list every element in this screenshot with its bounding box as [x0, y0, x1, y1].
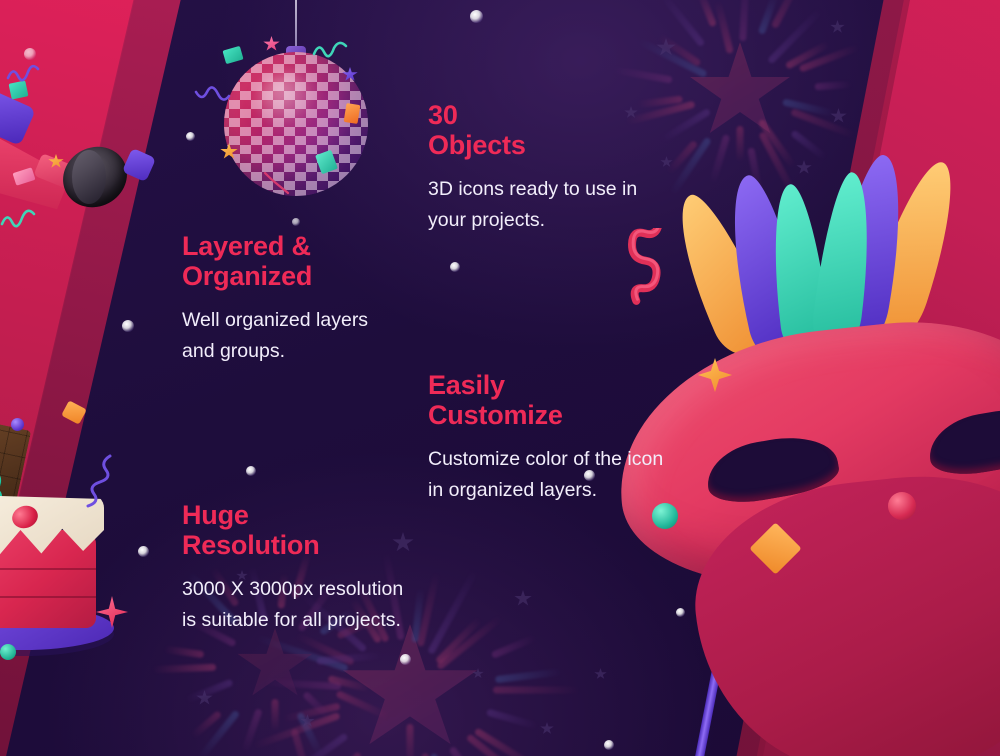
cake-stripe — [0, 596, 96, 598]
confetti-sphere-purple — [11, 418, 24, 431]
firework-ray — [637, 38, 708, 78]
firework-ray — [714, 0, 734, 54]
background-star — [830, 108, 847, 124]
cake-stripe — [0, 568, 96, 570]
background-star — [300, 714, 315, 728]
confetti-squiggle-teal — [312, 34, 350, 64]
bokeh-dot — [186, 132, 195, 141]
background-star — [196, 690, 213, 706]
firework-ray — [491, 634, 537, 659]
background-star — [594, 668, 607, 680]
firework-ray — [184, 679, 233, 704]
firework-ray — [241, 708, 263, 754]
popper-cap-left — [0, 90, 36, 146]
confetti-squiggle-teal — [0, 196, 40, 230]
confetti-sphere-teal — [0, 644, 16, 660]
feature-body: Well organized layers and groups. — [182, 305, 472, 367]
background-star — [540, 722, 554, 735]
firework-core-star — [340, 624, 480, 756]
firework-ray — [325, 751, 363, 756]
firework-ray — [264, 679, 341, 690]
firework-ray — [407, 724, 414, 756]
bokeh-dot — [604, 740, 614, 750]
firework-ray — [785, 41, 830, 70]
bokeh-dot — [292, 218, 300, 226]
bokeh-dot — [122, 320, 134, 332]
firework-ray — [495, 668, 562, 683]
background-star — [472, 668, 484, 679]
feature-body: 3000 X 3000px resolution is suitable for… — [182, 574, 492, 636]
firework-ray — [771, 0, 804, 29]
feature-body: Customize color of the icon in organized… — [428, 444, 728, 506]
firework-ray — [815, 81, 853, 91]
firework-core-star — [236, 628, 314, 702]
confetti-sphere-teal — [652, 503, 678, 529]
feature-block-huge: Huge Resolution 3000 X 3000px resolution… — [182, 500, 492, 636]
firework-ray — [317, 652, 384, 665]
firework-ray — [291, 728, 315, 756]
confetti-rect-orange — [344, 103, 361, 124]
bokeh-dot — [470, 10, 483, 23]
firework-ray — [612, 66, 673, 83]
popper-wheel-rim — [72, 150, 106, 204]
firework-ray — [327, 675, 370, 692]
firework-ray — [255, 634, 349, 672]
firework-ray — [739, 0, 750, 41]
feature-block-layered: Layered & Organized Well organized layer… — [182, 231, 472, 367]
feature-body: 3D icons ready to use in your projects. — [428, 174, 728, 236]
bokeh-dot — [246, 466, 256, 476]
firework-ray — [466, 733, 543, 756]
background-star — [656, 38, 676, 57]
confetti-squiggle-purple — [6, 56, 42, 86]
background-star — [514, 590, 532, 607]
firework-ray — [296, 712, 323, 756]
firework-ray — [758, 0, 779, 35]
firework-ray — [767, 7, 824, 65]
feature-block-easily: Easily Customize Customize color of the … — [428, 370, 728, 506]
feature-block-objects: 30 Objects 3D icons ready to use in your… — [428, 100, 728, 236]
firework-ray — [790, 108, 856, 139]
firework-ray — [474, 728, 540, 756]
firework-ray — [782, 98, 835, 117]
bokeh-dot — [400, 654, 411, 665]
poster-canvas: 2 3 30 Objects 3D — [0, 0, 1000, 756]
firework-ray — [302, 691, 331, 719]
disco-ball-cord — [295, 0, 297, 52]
firework-ray — [295, 632, 355, 666]
confetti-squiggle-purple — [194, 82, 232, 112]
background-star — [830, 20, 845, 34]
firework-ray — [448, 746, 488, 756]
feature-heading: Huge Resolution — [182, 500, 492, 560]
confetti-squiggle-purple — [66, 452, 114, 510]
firework-ray — [799, 44, 861, 73]
firework-ray — [197, 710, 240, 756]
firework-ray — [335, 690, 390, 720]
confetti-squiggle-pink — [262, 170, 292, 196]
firework-ray — [272, 699, 279, 731]
firework-ray — [486, 708, 539, 729]
firework-ray — [696, 0, 717, 27]
firework-ray — [253, 712, 341, 749]
disco-ball-highlight — [256, 72, 322, 130]
mask-bead — [888, 492, 916, 520]
firework-ray — [287, 733, 349, 756]
feature-heading: 30 Objects — [428, 100, 728, 160]
firework-ray — [190, 710, 222, 739]
firework-ray — [493, 687, 580, 694]
firework-ray — [421, 753, 450, 756]
feature-heading: Layered & Organized — [182, 231, 472, 291]
feature-heading: Easily Customize — [428, 370, 728, 430]
